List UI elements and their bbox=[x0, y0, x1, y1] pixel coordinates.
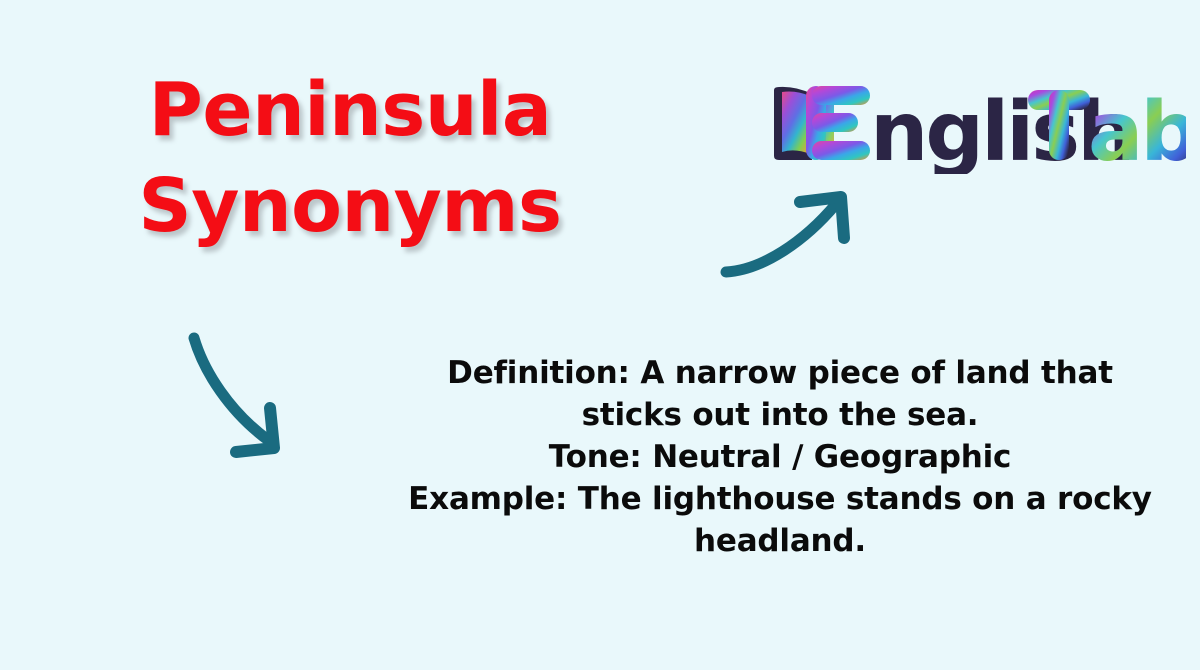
slide-canvas: Peninsula Synonyms bbox=[0, 0, 1200, 670]
definition-line-2: sticks out into the sea. bbox=[370, 394, 1190, 436]
definition-line-3: Tone: Neutral / Geographic bbox=[370, 436, 1190, 478]
logo-text-ab: ab bbox=[1088, 85, 1186, 174]
englishtab-logo[interactable]: nglish ab bbox=[766, 72, 1186, 174]
definition-line-5: headland. bbox=[370, 520, 1190, 562]
logo-svg: nglish ab bbox=[766, 72, 1186, 174]
curved-arrow-down-icon bbox=[160, 320, 310, 470]
curved-arrow-up-icon bbox=[710, 180, 870, 290]
title-line-2: Synonyms bbox=[0, 158, 700, 254]
title-line-1: Peninsula bbox=[0, 62, 700, 158]
definition-line-1: Definition: A narrow piece of land that bbox=[370, 352, 1190, 394]
definition-text-block: Definition: A narrow piece of land that … bbox=[370, 352, 1190, 562]
definition-line-4: Example: The lighthouse stands on a rock… bbox=[370, 478, 1190, 520]
logo-letter-e bbox=[806, 86, 870, 160]
page-title: Peninsula Synonyms bbox=[0, 62, 700, 254]
